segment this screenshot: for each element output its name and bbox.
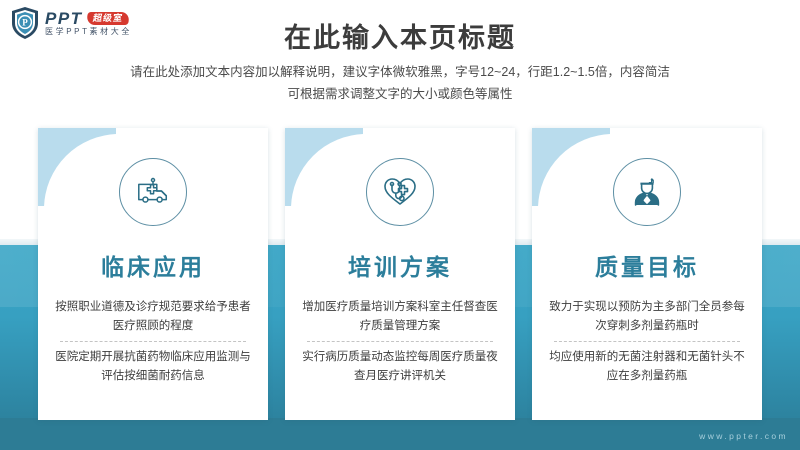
card-corner-decoration (532, 128, 610, 206)
slide-root: P PPT 超级室 医学PPT素材大全 在此输入本页标题 请在此处添加文本内容加… (0, 0, 800, 450)
card-text-top: 按照职业道德及诊疗规范要求给予患者医疗照顾的程度 (54, 298, 252, 335)
card-text-bottom: 医院定期开展抗菌药物临床应用监测与评估按细菌耐药信息 (54, 348, 252, 385)
heart-stethoscope-icon (366, 158, 434, 226)
card-divider (60, 341, 246, 342)
footer-band (0, 418, 800, 450)
card-corner-decoration (38, 128, 116, 206)
card-title: 临床应用 (101, 248, 205, 282)
footer-url[interactable]: www.ppter.com (699, 431, 788, 441)
card-training-plan[interactable]: 培训方案 增加医疗质量培训方案科室主任督查医疗质量管理方案 实行病历质量动态监控… (285, 128, 515, 420)
card-corner-decoration (285, 128, 363, 206)
card-body: 增加医疗质量培训方案科室主任督查医疗质量管理方案 实行病历质量动态监控每周医疗质… (301, 298, 499, 386)
card-title: 质量目标 (595, 248, 699, 282)
card-body: 按照职业道德及诊疗规范要求给予患者医疗照顾的程度 医院定期开展抗菌药物临床应用监… (54, 298, 252, 386)
ambulance-icon (119, 158, 187, 226)
card-text-bottom: 实行病历质量动态监控每周医疗质量夜查月医疗讲评机关 (301, 348, 499, 385)
card-row: 临床应用 按照职业道德及诊疗规范要求给予患者医疗照顾的程度 医院定期开展抗菌药物… (38, 128, 762, 420)
card-title: 培训方案 (348, 248, 452, 282)
card-text-top: 增加医疗质量培训方案科室主任督查医疗质量管理方案 (301, 298, 499, 335)
page-subtitle: 请在此处添加文本内容加以解释说明，建议字体微软雅黑，字号12~24，行距1.2~… (100, 62, 700, 106)
page-title: 在此输入本页标题 (0, 16, 800, 55)
card-clinical-application[interactable]: 临床应用 按照职业道德及诊疗规范要求给予患者医疗照顾的程度 医院定期开展抗菌药物… (38, 128, 268, 420)
card-divider (307, 341, 493, 342)
page-subtitle-line-2: 可根据需求调整文字的大小或颜色等属性 (100, 84, 700, 106)
page-subtitle-line-1: 请在此处添加文本内容加以解释说明，建议字体微软雅黑，字号12~24，行距1.2~… (100, 62, 700, 84)
card-text-top: 致力于实现以预防为主多部门全员参每次穿刺多剂量药瓶时 (548, 298, 746, 335)
card-body: 致力于实现以预防为主多部门全员参每次穿刺多剂量药瓶时 均应使用新的无菌注射器和无… (548, 298, 746, 386)
card-divider (554, 341, 740, 342)
card-text-bottom: 均应使用新的无菌注射器和无菌针头不应在多剂量药瓶 (548, 348, 746, 385)
card-quality-goal[interactable]: 质量目标 致力于实现以预防为主多部门全员参每次穿刺多剂量药瓶时 均应使用新的无菌… (532, 128, 762, 420)
doctor-icon (613, 158, 681, 226)
